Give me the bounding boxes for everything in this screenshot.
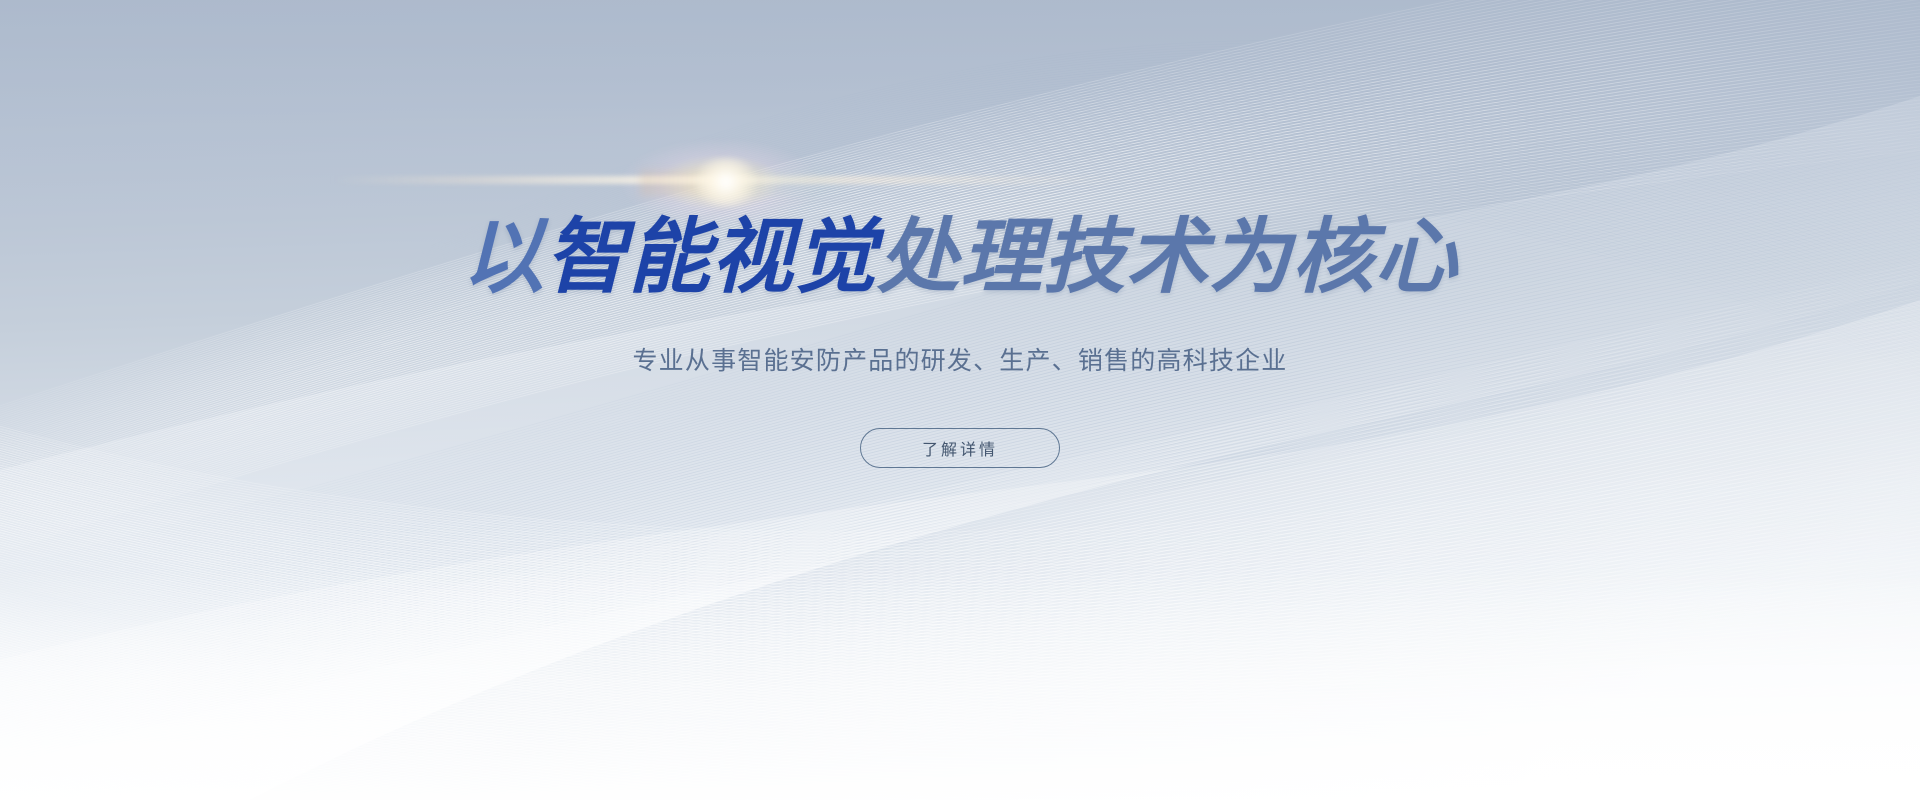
title-segment-processing-core: 处理技术为核心 xyxy=(877,212,1458,303)
learn-more-button[interactable]: 了解详情 xyxy=(860,428,1060,468)
hero-banner: 以智能视觉处理技术为核心 专业从事智能安防产品的研发、生产、销售的高科技企业 了… xyxy=(0,0,1920,800)
title-segment-ai-vision: 智能视觉 xyxy=(545,212,877,303)
hero-title: 以智能视觉处理技术为核心 xyxy=(462,212,1458,304)
hero-content: 以智能视觉处理技术为核心 专业从事智能安防产品的研发、生产、销售的高科技企业 了… xyxy=(0,0,1920,800)
hero-subtitle: 专业从事智能安防产品的研发、生产、销售的高科技企业 xyxy=(632,344,1287,378)
title-segment-yi: 以 xyxy=(462,212,545,303)
